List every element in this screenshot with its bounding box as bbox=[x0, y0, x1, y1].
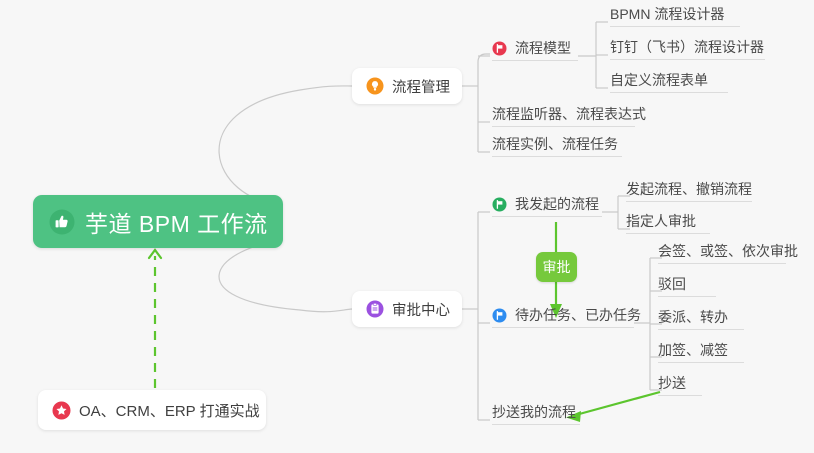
clipboard-icon-purple bbox=[366, 300, 384, 318]
leaf-instance-task[interactable]: 流程实例、流程任务 bbox=[492, 136, 622, 157]
leaf-instance-task-label: 流程实例、流程任务 bbox=[492, 136, 618, 152]
leaf-huiqian-label: 会签、或签、依次审批 bbox=[658, 243, 798, 259]
leaf-chaosong-wode-label: 抄送我的流程 bbox=[492, 404, 576, 420]
leaf-bohui[interactable]: 驳回 bbox=[658, 276, 716, 297]
node-oa-crm-erp-label: OA、CRM、ERP 打通实战 bbox=[79, 400, 260, 421]
leaf-dingtalk-designer[interactable]: 钉钉（飞书）流程设计器 bbox=[610, 39, 765, 60]
leaf-jiaqian-jianqian-label: 加签、减签 bbox=[658, 342, 728, 358]
leaf-weipai-zhuanban[interactable]: 委派、转办 bbox=[658, 309, 744, 330]
leaf-liucheng-moxing[interactable]: 流程模型 bbox=[492, 40, 578, 61]
flag-icon-blue bbox=[492, 308, 507, 323]
node-liucheng-guanli[interactable]: 流程管理 bbox=[352, 68, 462, 104]
node-liucheng-guanli-label: 流程管理 bbox=[392, 76, 450, 97]
thumbs-up-icon bbox=[49, 209, 75, 235]
leaf-listener-expression-label: 流程监听器、流程表达式 bbox=[492, 106, 646, 122]
leaf-zhidingren-shenpi[interactable]: 指定人审批 bbox=[626, 213, 710, 234]
annotation-pill-shenpi: 审批 bbox=[536, 252, 577, 282]
leaf-weipai-zhuanban-label: 委派、转办 bbox=[658, 309, 728, 325]
leaf-listener-expression[interactable]: 流程监听器、流程表达式 bbox=[492, 106, 635, 127]
leaf-bpmn-designer[interactable]: BPMN 流程设计器 bbox=[610, 6, 740, 27]
root-label: 芋道 BPM 工作流 bbox=[85, 205, 268, 239]
node-shenpi-zhongxin-label: 审批中心 bbox=[392, 299, 450, 320]
node-oa-crm-erp[interactable]: OA、CRM、ERP 打通实战 bbox=[38, 390, 266, 430]
flag-icon-green bbox=[492, 197, 507, 212]
leaf-chaosong[interactable]: 抄送 bbox=[658, 375, 702, 396]
leaf-custom-form-label: 自定义流程表单 bbox=[610, 72, 708, 88]
leaf-huiqian[interactable]: 会签、或签、依次审批 bbox=[658, 243, 786, 264]
leaf-wo-faqi-label: 我发起的流程 bbox=[515, 196, 599, 212]
leaf-wo-faqi[interactable]: 我发起的流程 bbox=[492, 196, 602, 217]
leaf-bpmn-designer-label: BPMN 流程设计器 bbox=[610, 6, 724, 22]
leaf-jiaqian-jianqian[interactable]: 加签、减签 bbox=[658, 342, 744, 363]
leaf-custom-form[interactable]: 自定义流程表单 bbox=[610, 72, 728, 93]
leaf-daiban-yiban-label: 待办任务、已办任务 bbox=[515, 307, 641, 323]
mindmap-canvas: 芋道 BPM 工作流 流程管理 流程模型 BPMN 流程设计器 钉钉（飞书）流程… bbox=[0, 0, 814, 453]
leaf-chaosong-label: 抄送 bbox=[658, 375, 686, 391]
leaf-daiban-yiban[interactable]: 待办任务、已办任务 bbox=[492, 307, 634, 328]
root-node[interactable]: 芋道 BPM 工作流 bbox=[33, 195, 283, 248]
leaf-faqi-chexiao-label: 发起流程、撤销流程 bbox=[626, 181, 752, 197]
leaf-faqi-chexiao[interactable]: 发起流程、撤销流程 bbox=[626, 181, 752, 202]
annotation-pill-shenpi-label: 审批 bbox=[543, 257, 571, 277]
leaf-bohui-label: 驳回 bbox=[658, 276, 686, 292]
star-icon-red bbox=[52, 401, 71, 420]
leaf-liucheng-moxing-label: 流程模型 bbox=[515, 40, 571, 56]
leaf-chaosong-wode[interactable]: 抄送我的流程 bbox=[492, 404, 580, 425]
leaf-zhidingren-shenpi-label: 指定人审批 bbox=[626, 213, 696, 229]
leaf-dingtalk-designer-label: 钉钉（飞书）流程设计器 bbox=[610, 39, 764, 55]
flag-icon-red bbox=[492, 41, 507, 56]
node-shenpi-zhongxin[interactable]: 审批中心 bbox=[352, 291, 462, 327]
lightbulb-pin-icon bbox=[366, 77, 384, 95]
